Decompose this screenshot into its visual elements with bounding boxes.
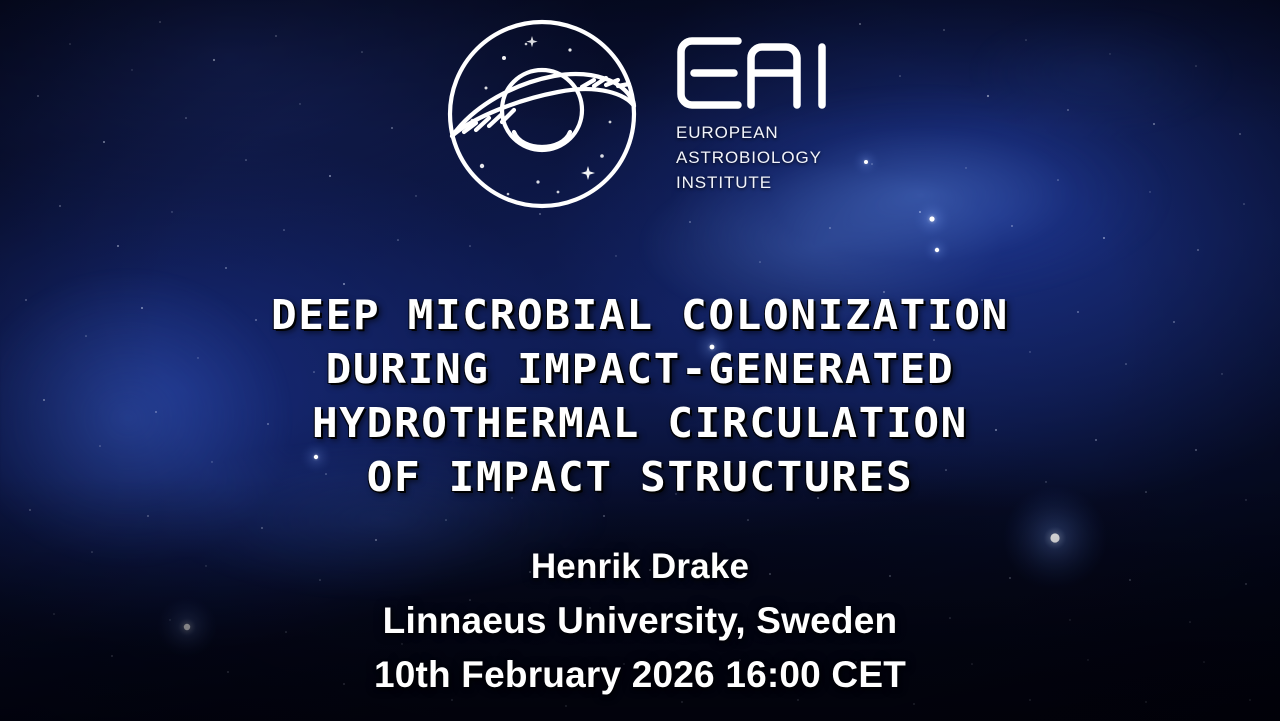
ringed-planet-dna-circle-icon [442,14,642,214]
logo-word-line-1: EUROPEAN [676,120,838,145]
eai-monogram-icon [676,36,838,110]
title-line-1: DEEP MICROBIAL COLONIZATION [0,288,1280,342]
speaker-block: Henrik Drake Linnaeus University, Sweden… [0,540,1280,702]
logo-wordmark-block: EUROPEAN ASTROBIOLOGY INSTITUTE [676,14,838,195]
logo-word-line-3: INSTITUTE [676,170,838,195]
title-line-2: DURING IMPACT-GENERATED [0,342,1280,396]
speaker-affiliation: Linnaeus University, Sweden [0,594,1280,648]
logo-word-line-2: ASTROBIOLOGY [676,145,838,170]
logo-wordmark-lines: EUROPEAN ASTROBIOLOGY INSTITUTE [676,120,838,195]
eai-logo: EUROPEAN ASTROBIOLOGY INSTITUTE [0,14,1280,214]
title-line-4: OF IMPACT STRUCTURES [0,450,1280,504]
event-datetime: 10th February 2026 16:00 CET [0,648,1280,702]
webinar-title-slide: EUROPEAN ASTROBIOLOGY INSTITUTE DEEP MIC… [0,0,1280,721]
speaker-name: Henrik Drake [0,540,1280,594]
talk-title: DEEP MICROBIAL COLONIZATION DURING IMPAC… [0,288,1280,504]
title-line-3: HYDROTHERMAL CIRCULATION [0,396,1280,450]
